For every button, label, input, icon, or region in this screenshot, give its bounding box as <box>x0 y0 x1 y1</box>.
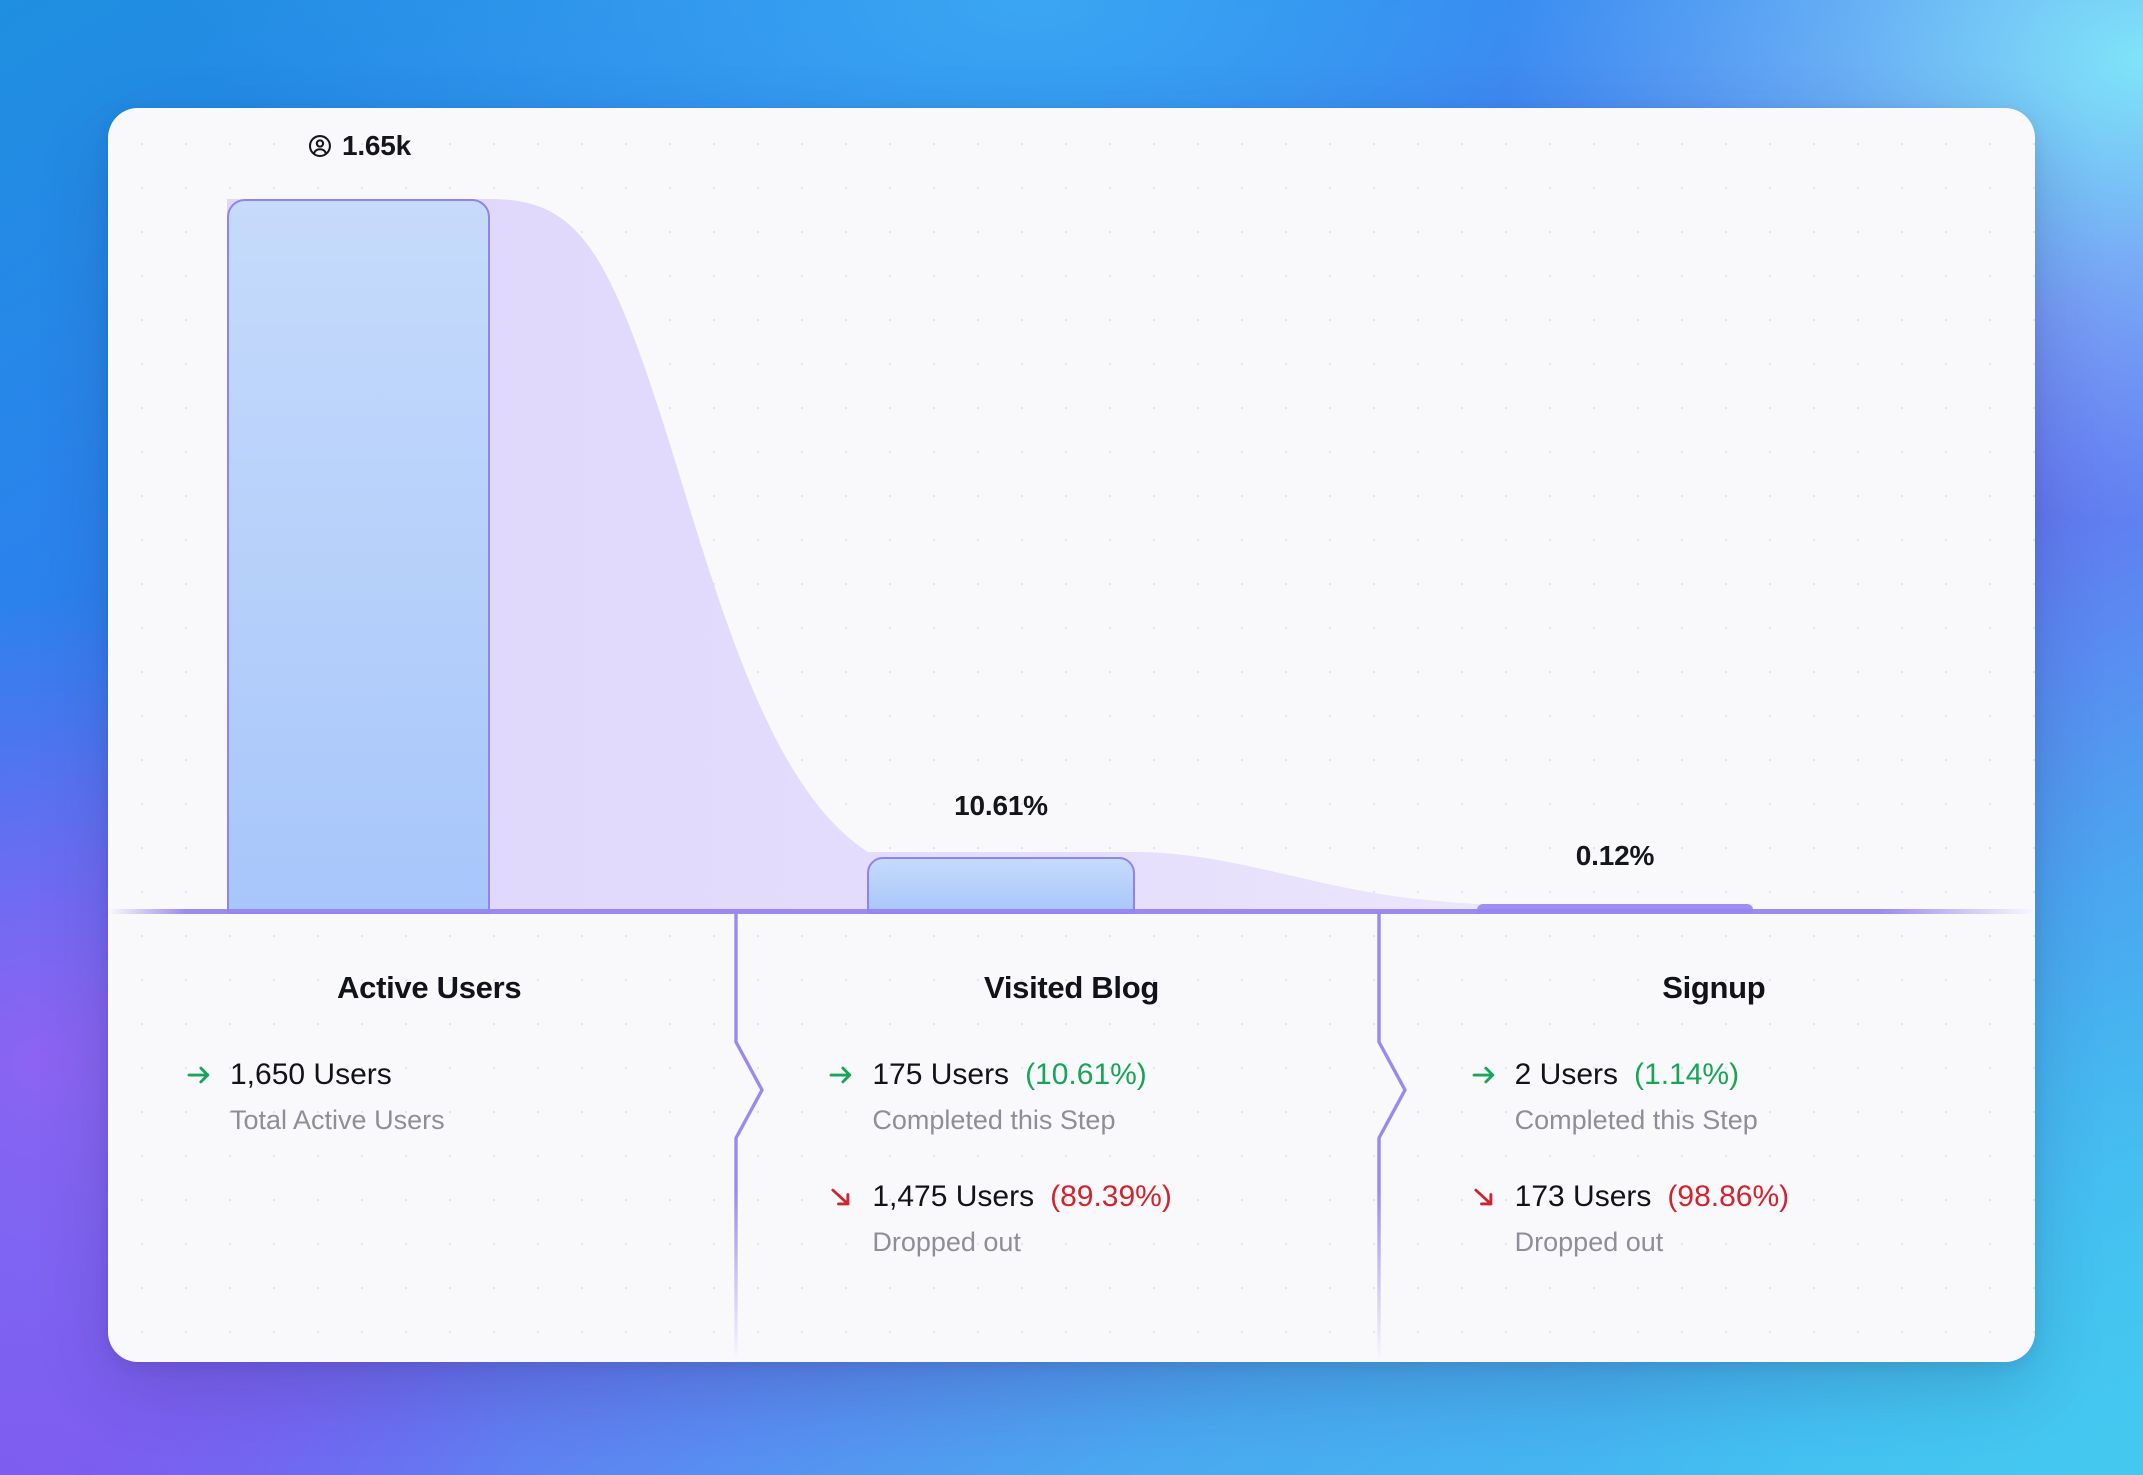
funnel-chart-area: 1.65k 10.61% 0.12% <box>108 108 2035 914</box>
arrow-right-icon <box>184 1060 214 1090</box>
metric-completed: 1,650 Users Total Active Users <box>184 1058 750 1136</box>
arrow-right-icon <box>826 1060 856 1090</box>
metric-value: 2 Users <box>1515 1058 1618 1092</box>
funnel-chart-card: 1.65k 10.61% 0.12% Active Users 1,650 Us… <box>108 108 2035 1362</box>
metric-value: 1,475 Users <box>872 1180 1034 1214</box>
step-title: Active Users <box>108 970 750 1006</box>
metric-dropped: 1,475 Users (89.39%) Dropped out <box>826 1180 1392 1258</box>
metric-dropped: 173 Users (98.86%) Dropped out <box>1469 1180 2035 1258</box>
arrow-down-right-icon <box>1469 1182 1499 1212</box>
step-metrics: 175 Users (10.61%) Completed this Step 1… <box>750 1058 1392 1258</box>
arrow-down-right-icon <box>826 1182 856 1212</box>
step-title: Signup <box>1393 970 2035 1006</box>
funnel-step-active-users[interactable]: Active Users 1,650 Users Total Active Us… <box>108 914 750 1362</box>
user-circle-icon <box>307 133 333 159</box>
bar-label-active-users: 1.65k <box>307 130 411 162</box>
metric-percent: (89.39%) <box>1050 1180 1172 1214</box>
metric-caption: Dropped out <box>1515 1227 2035 1258</box>
funnel-step-visited-blog[interactable]: Visited Blog 175 Users (10.61%) Complete… <box>750 914 1392 1362</box>
bar-label-text: 0.12% <box>1576 840 1654 872</box>
bar-label-signup: 0.12% <box>1576 840 1654 872</box>
bar-label-visited-blog: 10.61% <box>954 790 1048 822</box>
metric-completed: 2 Users (1.14%) Completed this Step <box>1469 1058 2035 1136</box>
metric-caption: Completed this Step <box>1515 1105 2035 1136</box>
funnel-steps: Active Users 1,650 Users Total Active Us… <box>108 914 2035 1362</box>
bar-label-text: 10.61% <box>954 790 1048 822</box>
metric-value: 173 Users <box>1515 1180 1652 1214</box>
metric-caption: Total Active Users <box>230 1105 750 1136</box>
metric-percent: (98.86%) <box>1667 1180 1789 1214</box>
metric-completed: 175 Users (10.61%) Completed this Step <box>826 1058 1392 1136</box>
metric-percent: (10.61%) <box>1025 1058 1147 1092</box>
step-title: Visited Blog <box>750 970 1392 1006</box>
metric-caption: Completed this Step <box>872 1105 1392 1136</box>
metric-percent: (1.14%) <box>1634 1058 1739 1092</box>
funnel-step-signup[interactable]: Signup 2 Users (1.14%) Completed this St… <box>1393 914 2035 1362</box>
step-metrics: 2 Users (1.14%) Completed this Step 173 … <box>1393 1058 2035 1258</box>
bar-visited-blog[interactable] <box>867 857 1135 914</box>
bar-label-text: 1.65k <box>342 130 411 162</box>
bar-active-users[interactable] <box>227 199 490 914</box>
metric-caption: Dropped out <box>872 1227 1392 1258</box>
arrow-right-icon <box>1469 1060 1499 1090</box>
metric-value: 175 Users <box>872 1058 1009 1092</box>
metric-value: 1,650 Users <box>230 1058 392 1092</box>
step-metrics: 1,650 Users Total Active Users <box>108 1058 750 1136</box>
